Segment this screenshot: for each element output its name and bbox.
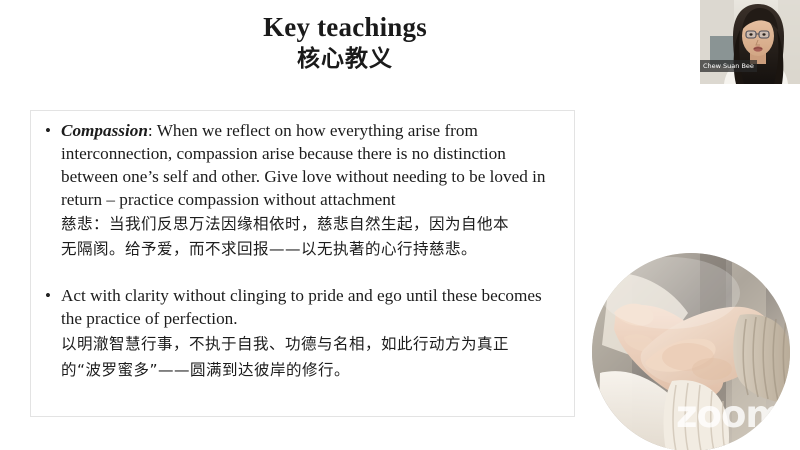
slide-content-box: • Compassion: When we reflect on how eve…: [30, 110, 575, 417]
photo-graphic: [592, 253, 790, 450]
bullet-lead-label: Compassion: [61, 121, 148, 140]
slide-title: Key teachings 核心教义: [0, 12, 690, 74]
slide-surface: Key teachings 核心教义 • Compassion: When we…: [0, 0, 800, 450]
presentation-screen: Key teachings 核心教义 • Compassion: When we…: [0, 0, 800, 450]
slide-title-english: Key teachings: [0, 12, 690, 42]
participant-name-badge: Chew Suan Bee: [700, 60, 757, 72]
video-participant-tile[interactable]: Chew Suan Bee: [700, 0, 800, 84]
clasped-hands-photo: zoom: [592, 253, 790, 450]
slide-title-chinese: 核心教义: [0, 44, 690, 74]
bullet-spacer: [41, 262, 564, 284]
bullet-content: Compassion: When we reflect on how every…: [61, 119, 564, 262]
bullet-content: Act with clarity without clinging to pri…: [61, 284, 564, 383]
bullet-marker: •: [41, 284, 61, 307]
bullet-item: • Compassion: When we reflect on how eve…: [41, 119, 564, 262]
bullet-english-text: Act with clarity without clinging to pri…: [61, 284, 564, 330]
bullet-marker: •: [41, 119, 61, 142]
bullet-english-text: Compassion: When we reflect on how every…: [61, 119, 564, 211]
bullet-item: • Act with clarity without clinging to p…: [41, 284, 564, 383]
bullet-chinese-text: 以明澈智慧行事，不执于自我、功德与名相，如此行动方为真正的“波罗蜜多”——圆满到…: [61, 331, 531, 383]
bullet-chinese-text: 慈悲：当我们反思万法因缘相依时，慈悲自然生起，因为自他本无隔阂。给予爱，而不求回…: [61, 212, 516, 262]
